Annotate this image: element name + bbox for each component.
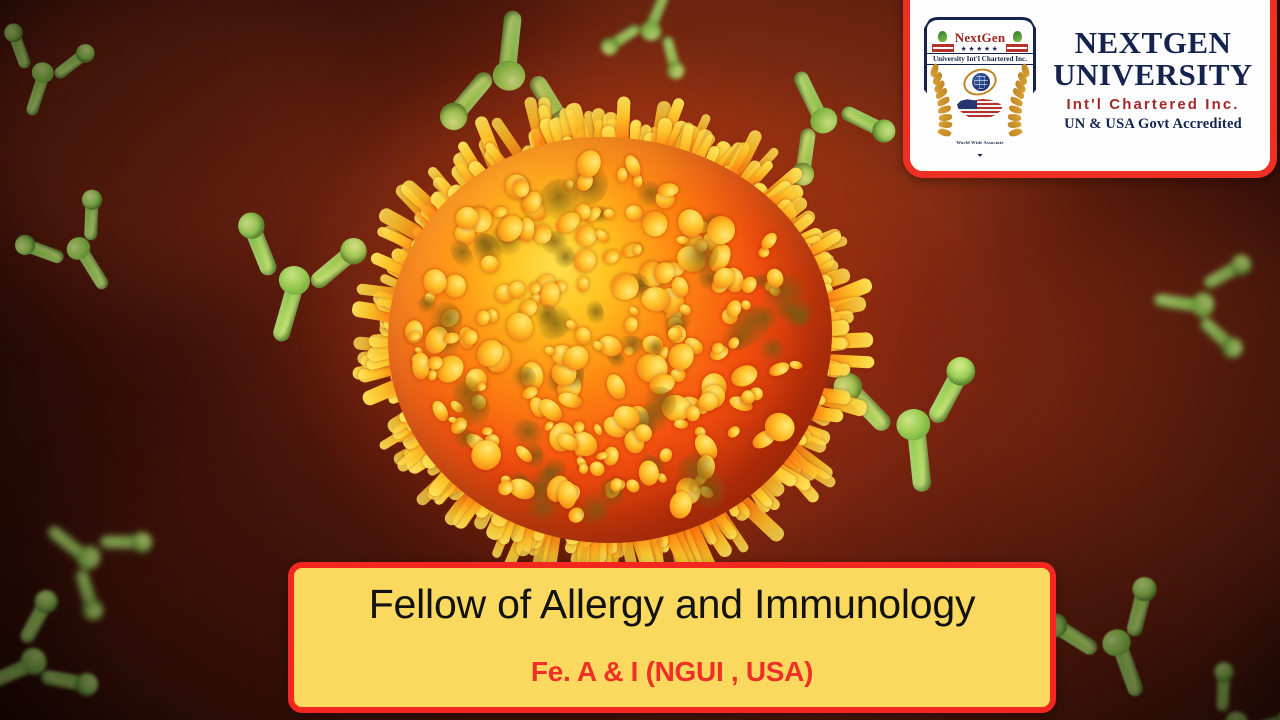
laurel-leaf — [939, 113, 952, 121]
laurel-wreath-icon — [926, 63, 956, 139]
laurel-leaf — [1008, 113, 1021, 121]
logo-line-nextgen: NEXTGEN — [1046, 27, 1260, 59]
laurel-leaf — [1008, 127, 1023, 139]
university-wordmark: NEXTGEN UNIVERSITY Int'l Chartered Inc. … — [1036, 27, 1260, 132]
logo-line-chartered: Int'l Chartered Inc. — [1046, 96, 1260, 113]
globe-icon — [963, 67, 997, 97]
university-crest-icon: NextGen ★★★★★ University Int'l Chartered… — [924, 17, 1036, 157]
program-title: Fellow of Allergy and Immunology — [369, 581, 976, 628]
laurel-leaf — [938, 105, 952, 114]
logo-line-accreditation: UN & USA Govt Accredited — [1046, 116, 1260, 133]
logo-line-university: UNIVERSITY — [1046, 59, 1260, 91]
crest-footer-text: World Wide Associate — [924, 140, 1036, 145]
program-title-banner: Fellow of Allergy and Immunology Fe. A &… — [288, 562, 1056, 713]
laurel-leaf — [937, 127, 952, 139]
crest-stars: ★★★★★ — [924, 45, 1036, 53]
university-logo-card[interactable]: NextGen ★★★★★ University Int'l Chartered… — [903, 0, 1277, 178]
laurel-wreath-icon — [1004, 63, 1034, 139]
poster-canvas: NextGen ★★★★★ University Int'l Chartered… — [0, 0, 1280, 720]
program-abbreviation: Fe. A & I (NGUI , USA) — [531, 656, 813, 688]
globe-ball — [972, 73, 990, 91]
